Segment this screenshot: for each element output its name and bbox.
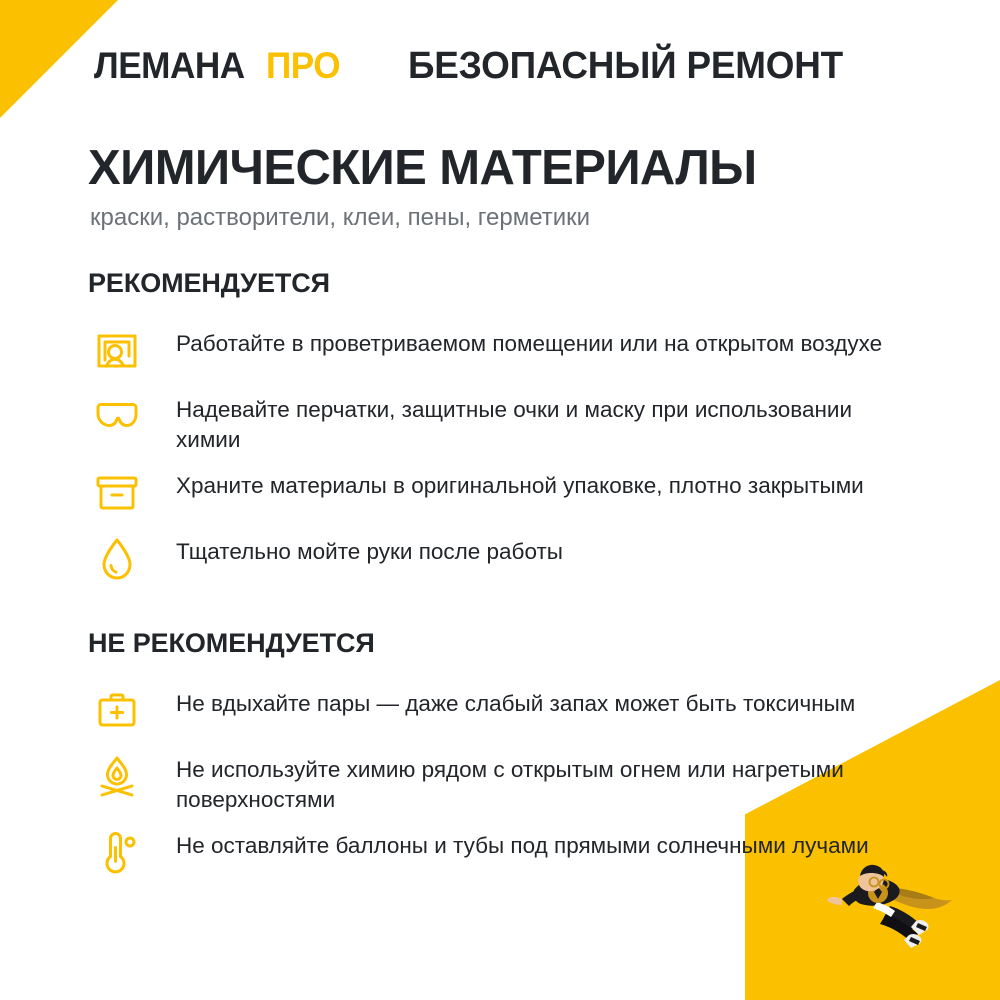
logo-text-lemana: ЛЕМАНА xyxy=(94,45,245,87)
storage-box-icon xyxy=(88,465,146,521)
page-subtitle: краски, растворители, клеи, пены, гермет… xyxy=(90,202,940,233)
list-item: Не вдыхайте пары — даже слабый запах мож… xyxy=(88,681,940,739)
page-title: ХИМИЧЕСКИЕ МАТЕРИАЛЫ xyxy=(88,143,940,194)
brand-logo: ЛЕМАНА ПРО xyxy=(94,45,344,87)
list-item-text: Не оставляйте баллоны и тубы под прямыми… xyxy=(176,823,869,861)
thermometer-sun-icon xyxy=(88,825,146,881)
section-recommended: РЕКОМЕНДУЕТСЯ Работайте в проветриваемом… xyxy=(88,268,940,599)
logo-text-pro: ПРО xyxy=(266,45,340,87)
section-heading-recommended: РЕКОМЕНДУЕТСЯ xyxy=(88,268,940,299)
list-item-text: Не вдыхайте пары — даже слабый запах мож… xyxy=(176,681,855,719)
list-item: Работайте в проветриваемом помещении или… xyxy=(88,321,940,379)
flying-superhero-mascot xyxy=(790,840,980,965)
header-title: БЕЗОПАСНЫЙ РЕМОНТ xyxy=(408,45,843,88)
list-item-text: Тщательно мойте руки после работы xyxy=(176,529,563,567)
list-item-text: Работайте в проветриваемом помещении или… xyxy=(176,321,882,359)
ventilated-room-icon xyxy=(88,323,146,379)
list-item: Тщательно мойте руки после работы xyxy=(88,529,940,587)
safety-goggles-icon xyxy=(88,389,146,445)
list-item-text: Храните материалы в оригинальной упаковк… xyxy=(176,463,864,501)
poster-canvas: ЛЕМАНА ПРО БЕЗОПАСНЫЙ РЕМОНТ ХИМИЧЕСКИЕ … xyxy=(0,0,1000,1000)
list-item: Надевайте перчатки, защитные очки и маск… xyxy=(88,387,940,455)
campfire-flame-icon xyxy=(88,749,146,805)
list-item: Не используйте химию рядом с открытым ог… xyxy=(88,747,940,815)
list-item-text: Надевайте перчатки, защитные очки и маск… xyxy=(176,387,896,455)
first-aid-kit-icon xyxy=(88,683,146,739)
list-item: Храните материалы в оригинальной упаковк… xyxy=(88,463,940,521)
list-item-text: Не используйте химию рядом с открытым ог… xyxy=(176,747,896,815)
section-heading-not-recommended: НЕ РЕКОМЕНДУЕТСЯ xyxy=(88,628,940,659)
header: ЛЕМАНА ПРО БЕЗОПАСНЫЙ РЕМОНТ xyxy=(94,40,940,92)
water-drop-icon xyxy=(88,531,146,587)
